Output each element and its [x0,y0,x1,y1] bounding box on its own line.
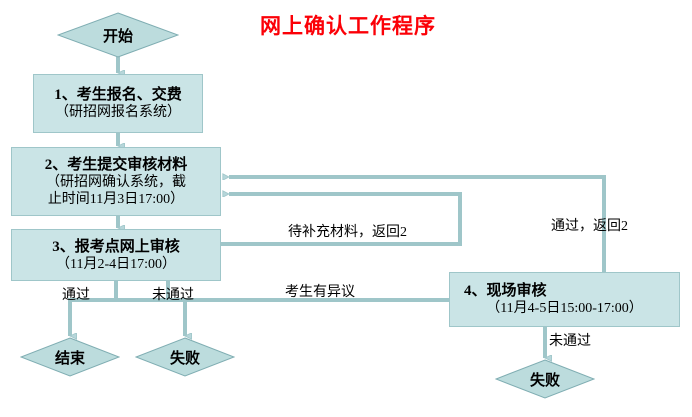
edge-label-not-pass-right: 未通过 [549,330,591,350]
node-start: 开始 [57,12,179,58]
node-step3-line1: 3、报考点网上审核 [52,238,180,256]
node-end-ok: 结束 [20,337,120,377]
node-step2-line3: 止时间11月3日17:00） [48,191,184,208]
node-end-fail-left-label: 失败 [135,337,235,377]
node-step2-line2: （研招网确认系统，截 [46,174,186,191]
edge-label-pass-return-2: 通过，返回2 [551,215,628,235]
edge-label-need-more-materials: 待补充材料，返回2 [288,221,407,241]
connector-step4-to-step2-return [229,177,604,272]
node-end-fail-left: 失败 [135,337,235,377]
node-step1: 1、考生报名、交费 （研招网报名系统） [33,74,203,133]
node-start-label: 开始 [57,12,179,58]
node-step2: 2、考生提交审核材料 （研招网确认系统，截 止时间11月3日17:00） [11,147,221,216]
node-step1-line2: （研招网报名系统） [55,104,181,121]
node-step3-line2: （11月2-4日17:00） [56,256,176,273]
node-step1-line1: 1、考生报名、交费 [54,86,182,104]
edge-label-pass: 通过 [62,284,90,304]
node-step4: 4、现场审核 （11月4-5日15:00-17:00） [449,272,680,327]
node-step2-line1: 2、考生提交审核材料 [45,156,188,174]
node-step3: 3、报考点网上审核 （11月2-4日17:00） [11,229,221,281]
edge-label-not-pass: 未通过 [152,284,194,304]
node-end-fail-right-label: 失败 [495,359,595,399]
connector-step3-pass-to-end [70,300,116,336]
page-title: 网上确认工作程序 [228,10,468,40]
node-end-ok-label: 结束 [20,337,120,377]
node-end-fail-right: 失败 [495,359,595,399]
edge-label-candidate-objection: 考生有异议 [285,281,355,301]
node-step4-line1: 4、现场审核 [464,282,547,300]
node-step4-line2: （11月4-5日15:00-17:00） [486,300,643,317]
connector-step3-notpass-to-fail [116,300,185,336]
